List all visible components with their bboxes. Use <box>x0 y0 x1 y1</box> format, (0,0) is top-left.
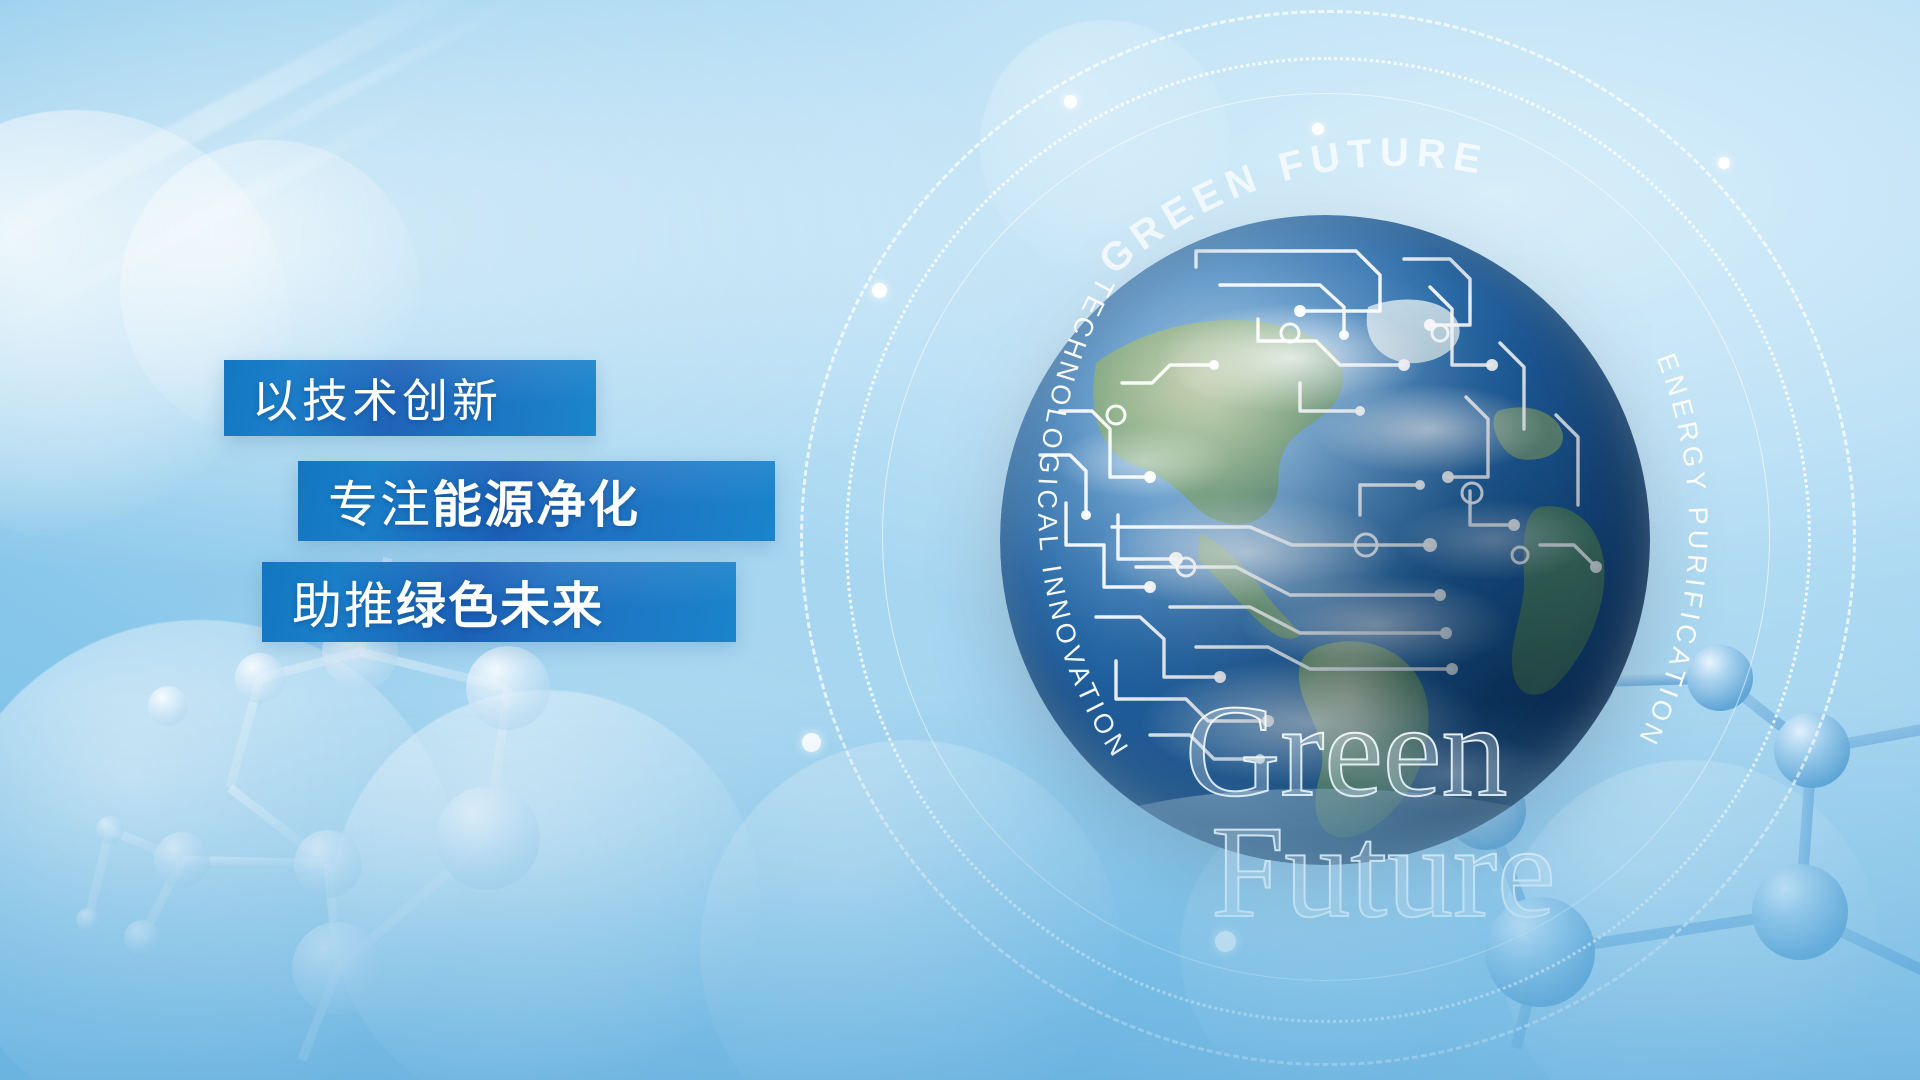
headline-bar-3-bold: 绿色未来 <box>396 566 604 638</box>
headline-bar-2-bold: 能源净化 <box>432 465 640 537</box>
bottom-gradient-wash <box>0 700 1920 1080</box>
arc-label-left: TECHNOLOGICAL INNOVATION <box>1032 272 1136 765</box>
headline-bar-3: 助推 绿色未来 <box>262 562 736 642</box>
headline-bar-2: 专注 能源净化 <box>298 461 775 541</box>
headline-bar-1: 以技术创新 <box>224 360 596 436</box>
headline-bar-3-light: 助推 <box>292 566 396 638</box>
headline-bar-1-light: 以技术创新 <box>252 365 502 431</box>
arc-label-right: ENERGY PURIFICATION <box>1631 349 1713 753</box>
arc-label-top: GREEN FUTURE <box>1091 131 1491 283</box>
banner-stage: GREEN FUTURE TECHNOLOGICAL INNOVATION EN… <box>0 0 1920 1080</box>
headline-bar-2-light: 专注 <box>328 465 432 537</box>
